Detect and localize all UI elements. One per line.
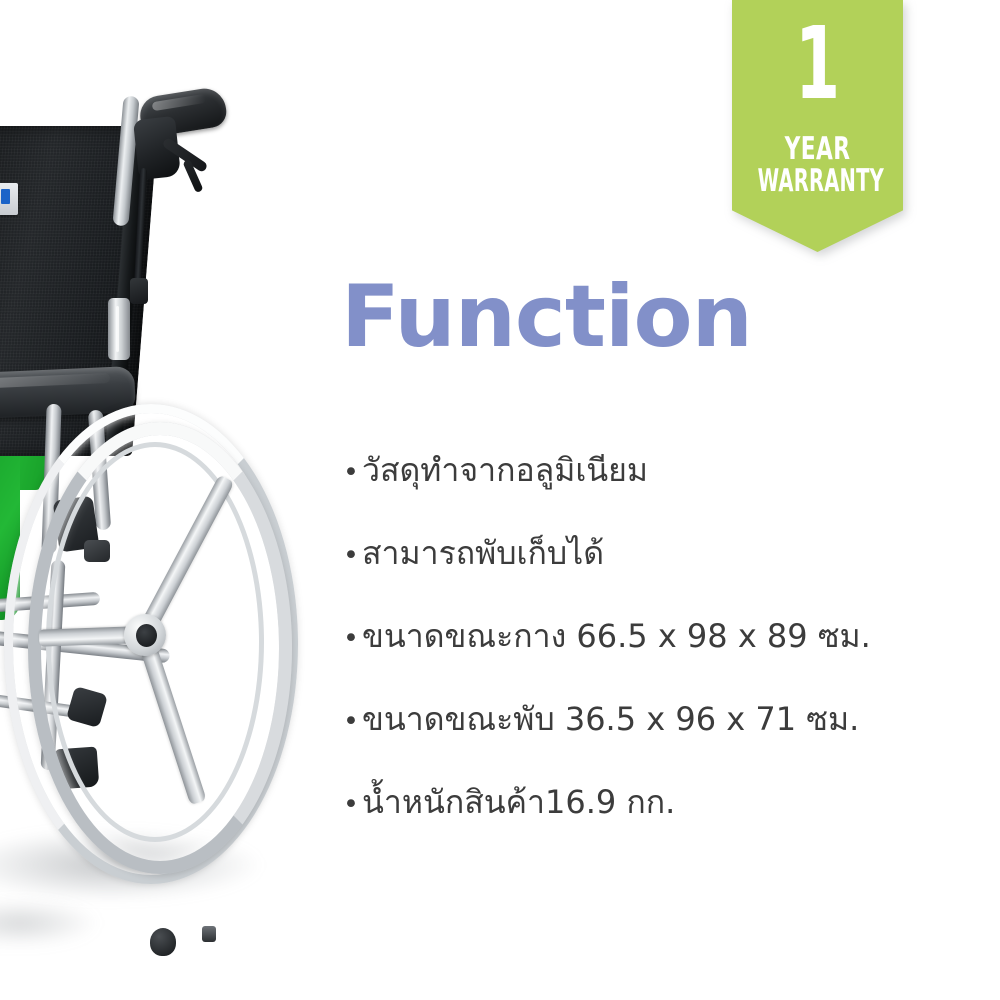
list-item-label: ขนาดขณะกาง 66.5 x 98 x 89 ซม. bbox=[362, 618, 871, 655]
list-item: • วัสดุทำจากอลูมิเนียม bbox=[343, 452, 983, 535]
list-item: • สามารถพับเก็บได้ bbox=[343, 535, 983, 618]
product-infographic-page: 1 YEAR WARRANTY Function • วัสดุทำจากอลู… bbox=[0, 0, 1000, 1000]
product-photo bbox=[0, 0, 330, 1000]
bullet-point-icon: • bbox=[343, 542, 362, 569]
list-item-label: น้ำหนักสินค้า16.9 กก. bbox=[362, 784, 675, 821]
bullet-point-icon: • bbox=[343, 708, 362, 735]
wheel-hub-cap bbox=[136, 624, 157, 647]
feature-list: • วัสดุทำจากอลูมิเนียม • สามารถพับเก็บได… bbox=[343, 452, 983, 867]
list-item-label: สามารถพับเก็บได้ bbox=[362, 535, 604, 572]
list-item-label: วัสดุทำจากอลูมิเนียม bbox=[362, 452, 648, 489]
warranty-number: 1 bbox=[756, 14, 879, 114]
list-item: • ขนาดขณะกาง 66.5 x 98 x 89 ซม. bbox=[343, 618, 983, 701]
backrest-tube-highlight bbox=[116, 306, 119, 352]
rim-tab bbox=[202, 926, 216, 942]
brake-cable-clip bbox=[130, 278, 148, 304]
page-title: Function bbox=[341, 274, 752, 360]
brand-logo-tag bbox=[0, 183, 18, 215]
list-item: • ขนาดขณะพับ 36.5 x 96 x 71 ซม. bbox=[343, 701, 983, 784]
rear-wheel bbox=[0, 398, 300, 870]
bullet-point-icon: • bbox=[343, 791, 362, 818]
list-item: • น้ำหนักสินค้า16.9 กก. bbox=[343, 784, 983, 867]
bullet-point-icon: • bbox=[343, 459, 362, 486]
backrest-tube-sleeve bbox=[108, 298, 130, 360]
quick-release-knob bbox=[150, 928, 176, 956]
list-item-label: ขนาดขณะพับ 36.5 x 96 x 71 ซม. bbox=[362, 701, 859, 738]
warranty-label: WARRANTY bbox=[758, 166, 878, 197]
warranty-badge: 1 YEAR WARRANTY bbox=[732, 0, 903, 252]
photo-ground-shadow-secondary bbox=[0, 900, 100, 946]
warranty-period-label: YEAR bbox=[751, 134, 884, 165]
bullet-point-icon: • bbox=[343, 625, 362, 652]
